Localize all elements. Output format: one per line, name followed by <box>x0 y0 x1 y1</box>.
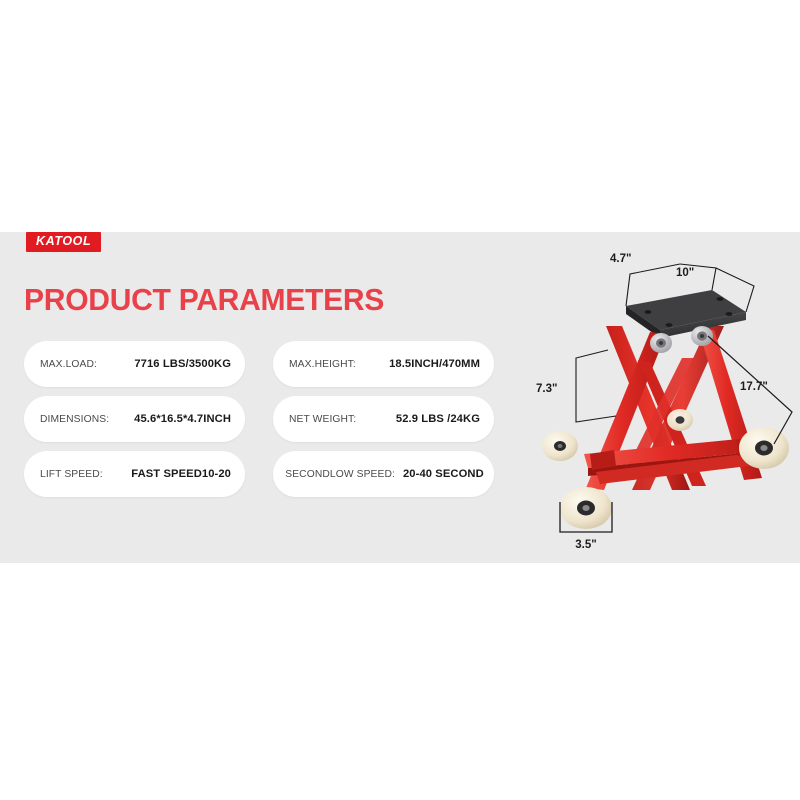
product-illustration: 4.7" 10" 7.3" 17.7" 3.5" <box>530 240 800 560</box>
spec-label: SECONDLOW SPEED: <box>285 469 395 480</box>
spec-card-dimensions: DIMENSIONS: 45.6*16.5*4.7INCH <box>24 396 245 442</box>
wheel-front-left <box>560 487 612 529</box>
wheel-mid-roller <box>667 409 693 431</box>
dimension-label-10: 10" <box>676 267 694 279</box>
spec-value: 7716 LBS/3500KG <box>134 358 231 370</box>
spec-card-net-weight: NET WEIGHT: 52.9 LBS /24KG <box>273 396 494 442</box>
katool-logo: KATOOL <box>26 232 101 252</box>
dimension-label-4-7: 4.7" <box>610 253 631 265</box>
spec-card-max-height: MAX.HEIGHT: 18.5INCH/470MM <box>273 341 494 387</box>
dimension-callout-arm-height: 7.3" <box>536 350 616 422</box>
spec-value: 18.5INCH/470MM <box>389 358 480 370</box>
spec-label: DIMENSIONS: <box>40 414 109 425</box>
wheel-right <box>739 427 789 469</box>
spec-card-grid: MAX.LOAD: 7716 LBS/3500KG MAX.HEIGHT: 18… <box>24 341 494 497</box>
spec-value: 52.9 LBS /24KG <box>396 413 480 425</box>
dimension-label-7-3: 7.3" <box>536 383 557 395</box>
spec-card-max-load: MAX.LOAD: 7716 LBS/3500KG <box>24 341 245 387</box>
dimension-label-17-7: 17.7" <box>740 381 768 393</box>
logo-text: KATOOL <box>36 235 91 248</box>
product-parameters-page: KATOOL PRODUCT PARAMETERS MAX.LOAD: 7716… <box>0 0 800 800</box>
spec-label: MAX.HEIGHT: <box>289 359 356 370</box>
spec-value: FAST SPEED10-20 <box>131 468 231 480</box>
spec-value: 45.6*16.5*4.7INCH <box>134 413 231 425</box>
spec-card-low-speed: SECONDLOW SPEED: 20-40 SECOND <box>273 451 494 497</box>
dimension-label-3-5: 3.5" <box>575 539 596 551</box>
spec-label: NET WEIGHT: <box>289 414 356 425</box>
spec-card-lift-speed: LIFT SPEED: FAST SPEED10-20 <box>24 451 245 497</box>
wheel-rear-left <box>542 431 578 461</box>
page-title: PRODUCT PARAMETERS <box>24 283 384 317</box>
spec-label: MAX.LOAD: <box>40 359 97 370</box>
spec-label: LIFT SPEED: <box>40 469 103 480</box>
spec-value: 20-40 SECOND <box>403 468 484 480</box>
top-mounting-plate <box>626 290 746 338</box>
